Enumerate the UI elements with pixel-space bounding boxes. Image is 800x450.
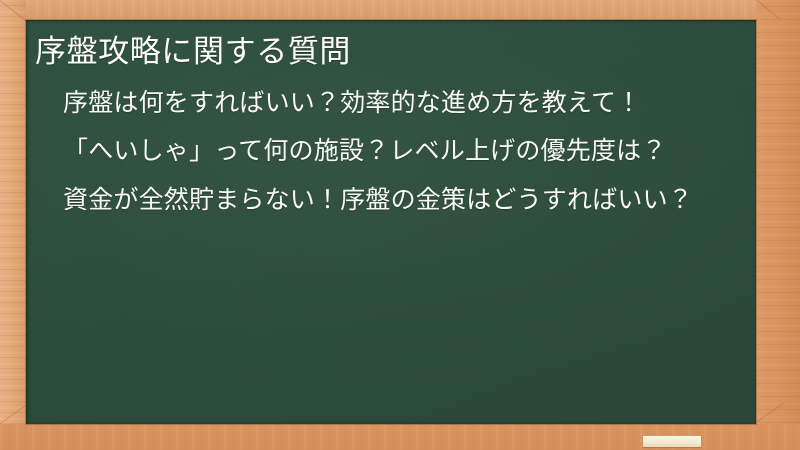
wood-frame-top [0,0,800,20]
chalkboard-surface: 序盤攻略に関する質問 序盤は何をすればいい？効率的な進め方を教えて！ 「へいしゃ… [26,20,756,424]
page-title: 序盤攻略に関する質問 [35,33,738,71]
question-list: 序盤は何をすればいい？効率的な進め方を教えて！ 「へいしゃ」って何の施設？レベル… [35,85,738,220]
list-item: 「へいしゃ」って何の施設？レベル上げの優先度は？ [49,133,738,171]
chalkboard-slide: 序盤攻略に関する質問 序盤は何をすればいい？効率的な進め方を教えて！ 「へいしゃ… [0,0,800,450]
list-item: 序盤は何をすればいい？効率的な進め方を教えて！ [49,85,738,123]
wood-frame-left [0,0,26,450]
chalkboard-content: 序盤攻略に関する質問 序盤は何をすればいい？効率的な進め方を教えて！ 「へいしゃ… [26,20,756,424]
wood-frame-right [756,0,800,450]
chalk-stick-icon [643,436,701,447]
list-item: 資金が全然貯まらない！序盤の金策はどうすればいい？ [49,182,738,220]
